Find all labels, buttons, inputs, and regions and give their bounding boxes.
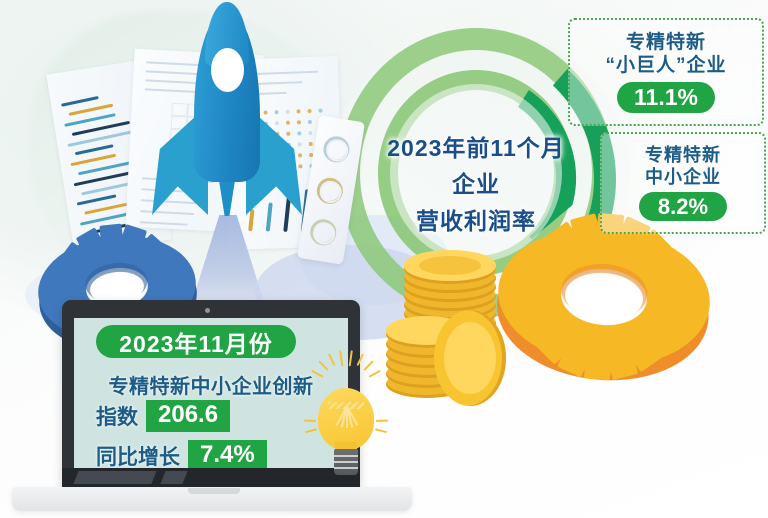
callout-2-line-2: 中小企业: [645, 167, 721, 189]
document-bar: [75, 144, 114, 155]
document-dot: [264, 111, 268, 115]
document-dot: [298, 164, 302, 168]
document-dot: [298, 153, 302, 157]
document-dot: [298, 142, 302, 146]
lightbulb-ray: [368, 370, 380, 378]
panel-row-growth-label: 同比增长: [96, 441, 180, 471]
laptop-hinge-sheen: [73, 471, 156, 484]
document-dot: [296, 109, 300, 113]
document-dot: [286, 132, 290, 136]
document-dot: [286, 121, 290, 125]
document-dot: [307, 109, 311, 113]
callout-2-line-1: 专精特新: [645, 145, 721, 167]
document-dot: [309, 142, 313, 146]
callout-specialized-sme[interactable]: 专精特新 中小企业 8.2%: [600, 132, 766, 234]
document-dot: [297, 131, 301, 135]
lightbulb-ray: [311, 370, 323, 378]
document-dot: [275, 121, 279, 125]
document-bar: [248, 209, 254, 231]
document-line: [141, 199, 201, 204]
callout-little-giant-enterprises[interactable]: 专精特新 “小巨人”企业 11.1%: [568, 18, 764, 126]
lightbulb-ridge: [334, 467, 358, 469]
lightbulb-ridge: [334, 461, 358, 463]
panel-row-index-label: 指数: [96, 401, 138, 431]
lightbulb-ray: [375, 428, 387, 433]
lightbulb-ridge: [334, 455, 358, 457]
document-dot: [318, 109, 322, 113]
period-badge: 2023年11月份: [96, 325, 296, 358]
coin-leaning-inner: [444, 322, 496, 394]
lightbulb-ray: [304, 420, 316, 422]
coin-stack-icon: [386, 248, 566, 390]
panel-row-index-value: 206.6: [146, 400, 230, 432]
document-grid-cell: [171, 103, 188, 117]
center-title-line-3: 营收利润率: [378, 203, 574, 239]
callout-1-line-2: “小巨人”企业: [605, 54, 726, 77]
panel-row-index: 指数 206.6: [96, 400, 230, 432]
center-title-line-2: 企业: [378, 166, 574, 202]
document-dot: [308, 131, 312, 135]
lightbulb-filament: [318, 400, 374, 446]
document-dot: [308, 120, 312, 124]
document-bar: [266, 202, 273, 231]
document-line: [140, 221, 188, 226]
document-bar: [77, 194, 117, 205]
document-line: [145, 88, 201, 93]
callout-1-line-1: 专精特新: [626, 31, 706, 54]
document-dot: [275, 110, 279, 114]
center-title-line-1: 2023年前11个月: [378, 130, 574, 166]
lightbulb-ray: [305, 428, 317, 433]
document-bar: [70, 154, 116, 166]
document-dot: [285, 110, 289, 114]
document-dot: [297, 120, 301, 124]
document-line: [140, 210, 194, 215]
document-bar: [61, 96, 99, 107]
rocket-window: [211, 48, 244, 92]
infographic-canvas: 2023年前11个月 企业 营收利润率 专精特新 “小巨人”企业 11.1% 专…: [0, 0, 768, 518]
callout-1-value-badge: 11.1%: [617, 82, 715, 113]
laptop-camera: [205, 308, 210, 313]
lightbulb-ray: [376, 420, 388, 422]
lightbulb-filament-zigzag: [328, 402, 364, 409]
callout-2-value-badge: 8.2%: [639, 192, 727, 221]
lightbulb-ray: [363, 360, 373, 371]
laptop-base-notch: [188, 488, 240, 494]
center-title-block: 2023年前11个月 企业 营收利润率: [378, 130, 574, 239]
coin-top-inner: [419, 256, 481, 275]
